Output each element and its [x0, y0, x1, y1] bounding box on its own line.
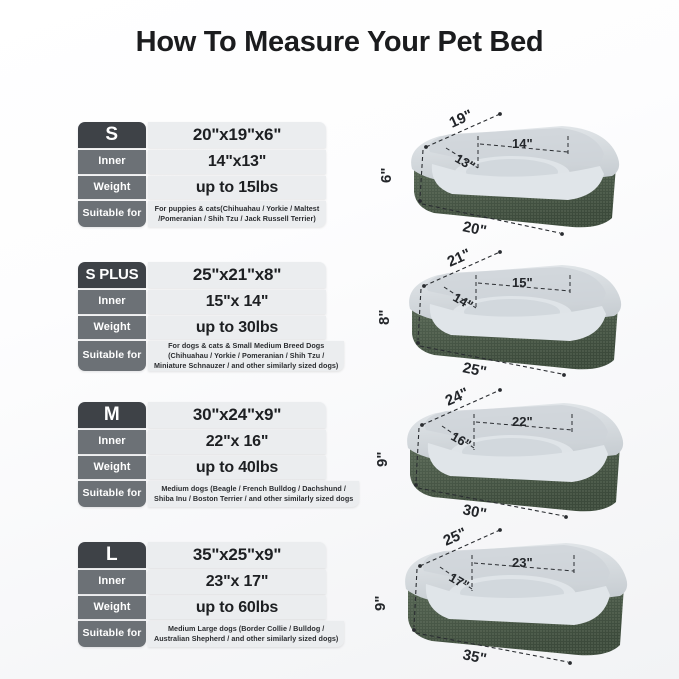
table-row-weight: Weight up to 15lbs: [78, 176, 326, 199]
inner-label: Inner: [78, 150, 146, 174]
suitable-label: Suitable for: [78, 481, 146, 507]
weight-value: up to 60lbs: [148, 596, 326, 619]
table-row-weight: Weight up to 60lbs: [78, 596, 326, 619]
table-row-size: S 20"x19"x6": [78, 122, 326, 148]
suitable-value: For puppies & cats(Chihuahau / Yorkie / …: [148, 201, 326, 227]
bed-illustration-s-plus: 21" 8" 25" 14" 15": [372, 236, 672, 376]
bed-svg: 19" 6" 20" 13" 14": [372, 96, 672, 236]
infographic-page: How To Measure Your Pet Bed S 20"x19"x6"…: [0, 0, 679, 679]
bed-illustration-m: 24" 9" 30" 16" 22": [372, 376, 672, 518]
size-dimensions: 20"x19"x6": [148, 122, 326, 148]
weight-label: Weight: [78, 596, 146, 619]
depth-label: 21": [445, 245, 474, 270]
depth-label: 19": [447, 106, 476, 131]
inner-value: 15"x 14": [148, 290, 326, 314]
inner-value: 22"x 16": [148, 430, 326, 454]
suitable-value: For dogs & cats & Small Medium Breed Dog…: [148, 341, 344, 371]
inner-value: 14"x13": [148, 150, 326, 174]
inner-label: Inner: [78, 290, 146, 314]
weight-label: Weight: [78, 176, 146, 199]
weight-value: up to 30lbs: [148, 316, 326, 339]
height-label: 8": [376, 310, 393, 325]
suitable-value: Medium Large dogs (Border Collie / Bulld…: [148, 621, 344, 647]
size-dimensions: 35"x25"x9": [148, 542, 326, 568]
suitable-lines: For dogs & cats & Small Medium Breed Dog…: [154, 341, 338, 372]
table-row-size: M 30"x24"x9": [78, 402, 326, 428]
size-badge: S: [78, 122, 146, 148]
height-label: 6": [378, 168, 395, 183]
inner-label: Inner: [78, 430, 146, 454]
table-row-weight: Weight up to 30lbs: [78, 316, 326, 339]
table-row-inner: Inner 15"x 14": [78, 290, 326, 314]
page-title: How To Measure Your Pet Bed: [0, 26, 679, 59]
height-label: 9": [374, 452, 391, 467]
table-row-suitable: Suitable for Medium dogs (Beagle / Frenc…: [78, 481, 326, 507]
suitable-lines: Medium dogs (Beagle / French Bulldog / D…: [154, 484, 353, 504]
table-row-size: L 35"x25"x9": [78, 542, 326, 568]
spec-table-m: M 30"x24"x9" Inner 22"x 16" Weight up to…: [78, 402, 326, 507]
spec-table-l: L 35"x25"x9" Inner 23"x 17" Weight up to…: [78, 542, 326, 647]
bed-illustration-l: 25" 9" 35" 17" 23": [372, 516, 672, 666]
bed-svg: 25" 9" 35" 17" 23": [372, 516, 672, 666]
weight-label: Weight: [78, 456, 146, 479]
table-row-inner: Inner 22"x 16": [78, 430, 326, 454]
bed-svg: 21" 8" 25" 14" 15": [372, 236, 672, 376]
height-label: 9": [372, 596, 389, 611]
inner-label: Inner: [78, 570, 146, 594]
weight-value: up to 40lbs: [148, 456, 326, 479]
suitable-lines: Medium Large dogs (Border Collie / Bulld…: [154, 624, 338, 644]
size-dimensions: 25"x21"x8": [148, 262, 326, 288]
table-row-inner: Inner 23"x 17": [78, 570, 326, 594]
suitable-label: Suitable for: [78, 341, 146, 371]
spec-table-s: S 20"x19"x6" Inner 14"x13" Weight up to …: [78, 122, 326, 227]
size-dimensions: 30"x24"x9": [148, 402, 326, 428]
size-badge: L: [78, 542, 146, 568]
inner-value: 23"x 17": [148, 570, 326, 594]
inner-width-label: 14": [512, 136, 533, 151]
suitable-label: Suitable for: [78, 201, 146, 227]
inner-width-label: 23": [512, 555, 533, 570]
size-badge: M: [78, 402, 146, 428]
bed-svg: 24" 9" 30" 16" 22": [372, 376, 672, 518]
weight-value: up to 15lbs: [148, 176, 326, 199]
depth-label: 24": [443, 384, 472, 409]
suitable-label: Suitable for: [78, 621, 146, 647]
table-row-inner: Inner 14"x13": [78, 150, 326, 174]
suitable-value: Medium dogs (Beagle / French Bulldog / D…: [148, 481, 359, 507]
bed-illustration-s: 19" 6" 20" 13" 14": [372, 96, 672, 236]
weight-label: Weight: [78, 316, 146, 339]
width-label: 35": [461, 646, 488, 668]
table-row-suitable: Suitable for Medium Large dogs (Border C…: [78, 621, 326, 647]
inner-width-label: 15": [512, 275, 533, 290]
table-row-suitable: Suitable for For puppies & cats(Chihuaha…: [78, 201, 326, 227]
inner-width-label: 22": [512, 414, 533, 429]
table-row-suitable: Suitable for For dogs & cats & Small Med…: [78, 341, 326, 371]
table-row-size: S PLUS 25"x21"x8": [78, 262, 326, 288]
size-badge: S PLUS: [78, 262, 146, 288]
suitable-lines: For puppies & cats(Chihuahau / Yorkie / …: [155, 204, 320, 224]
spec-table-s-plus: S PLUS 25"x21"x8" Inner 15"x 14" Weight …: [78, 262, 326, 371]
table-row-weight: Weight up to 40lbs: [78, 456, 326, 479]
